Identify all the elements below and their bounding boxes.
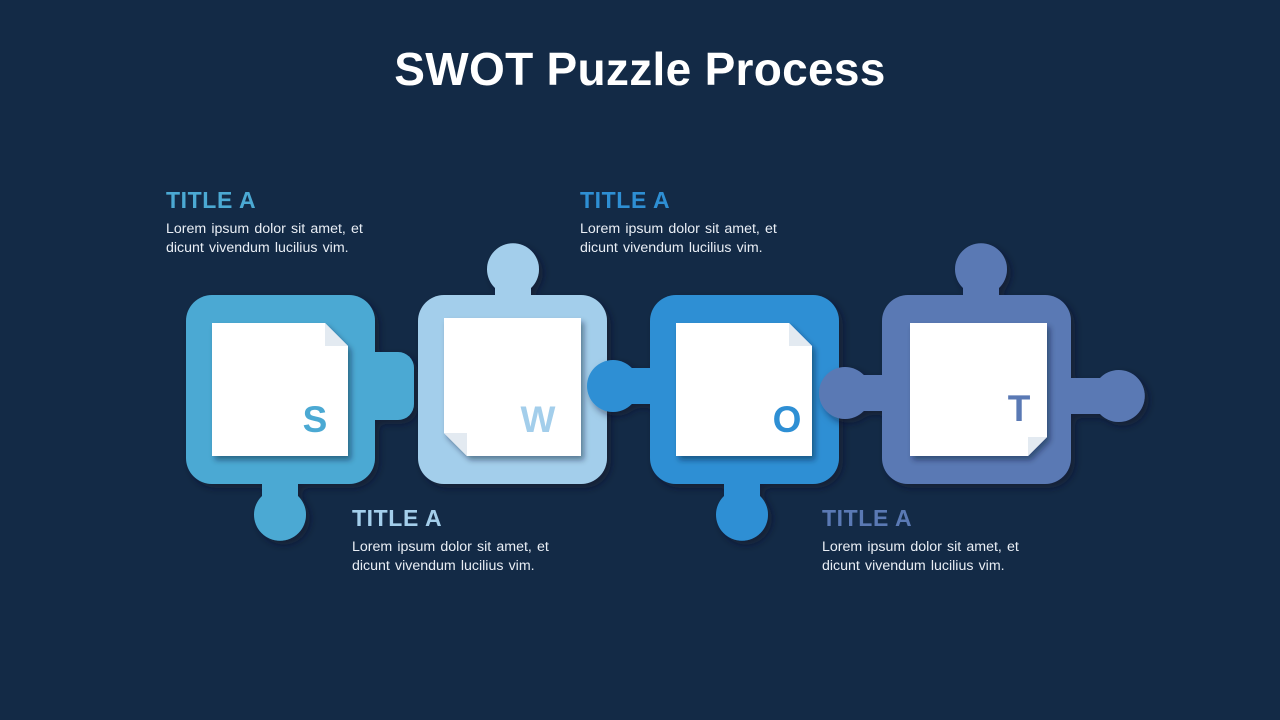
swot-puzzle-diagram: S W O <box>0 0 1280 720</box>
puzzle-piece-t[interactable]: T <box>819 243 1145 484</box>
caption-body-3: Lorem ipsum dolor sit amet, et dicunt vi… <box>352 538 584 576</box>
piece-letter-w: W <box>521 399 556 440</box>
piece-letter-t: T <box>1008 388 1031 429</box>
slide-canvas: SWOT Puzzle Process S <box>0 0 1280 720</box>
puzzle-piece-w[interactable]: W <box>418 243 607 484</box>
caption-block-3: TITLE A Lorem ipsum dolor sit amet, et d… <box>352 506 584 576</box>
caption-body-4: Lorem ipsum dolor sit amet, et dicunt vi… <box>822 538 1054 576</box>
puzzle-piece-o[interactable]: O <box>587 295 839 541</box>
caption-body-1: Lorem ipsum dolor sit amet, et dicunt vi… <box>166 220 398 258</box>
caption-body-2: Lorem ipsum dolor sit amet, et dicunt vi… <box>580 220 812 258</box>
puzzle-tab-t-right <box>1060 370 1145 422</box>
caption-title-4: TITLE A <box>822 506 1054 530</box>
caption-block-2: TITLE A Lorem ipsum dolor sit amet, et d… <box>580 188 812 258</box>
caption-title-3: TITLE A <box>352 506 584 530</box>
caption-block-1: TITLE A Lorem ipsum dolor sit amet, et d… <box>166 188 398 258</box>
caption-title-1: TITLE A <box>166 188 398 212</box>
piece-letter-o: O <box>773 399 802 440</box>
caption-title-2: TITLE A <box>580 188 812 212</box>
caption-block-4: TITLE A Lorem ipsum dolor sit amet, et d… <box>822 506 1054 576</box>
piece-letter-s: S <box>303 399 328 440</box>
puzzle-piece-s[interactable]: S <box>186 295 414 541</box>
